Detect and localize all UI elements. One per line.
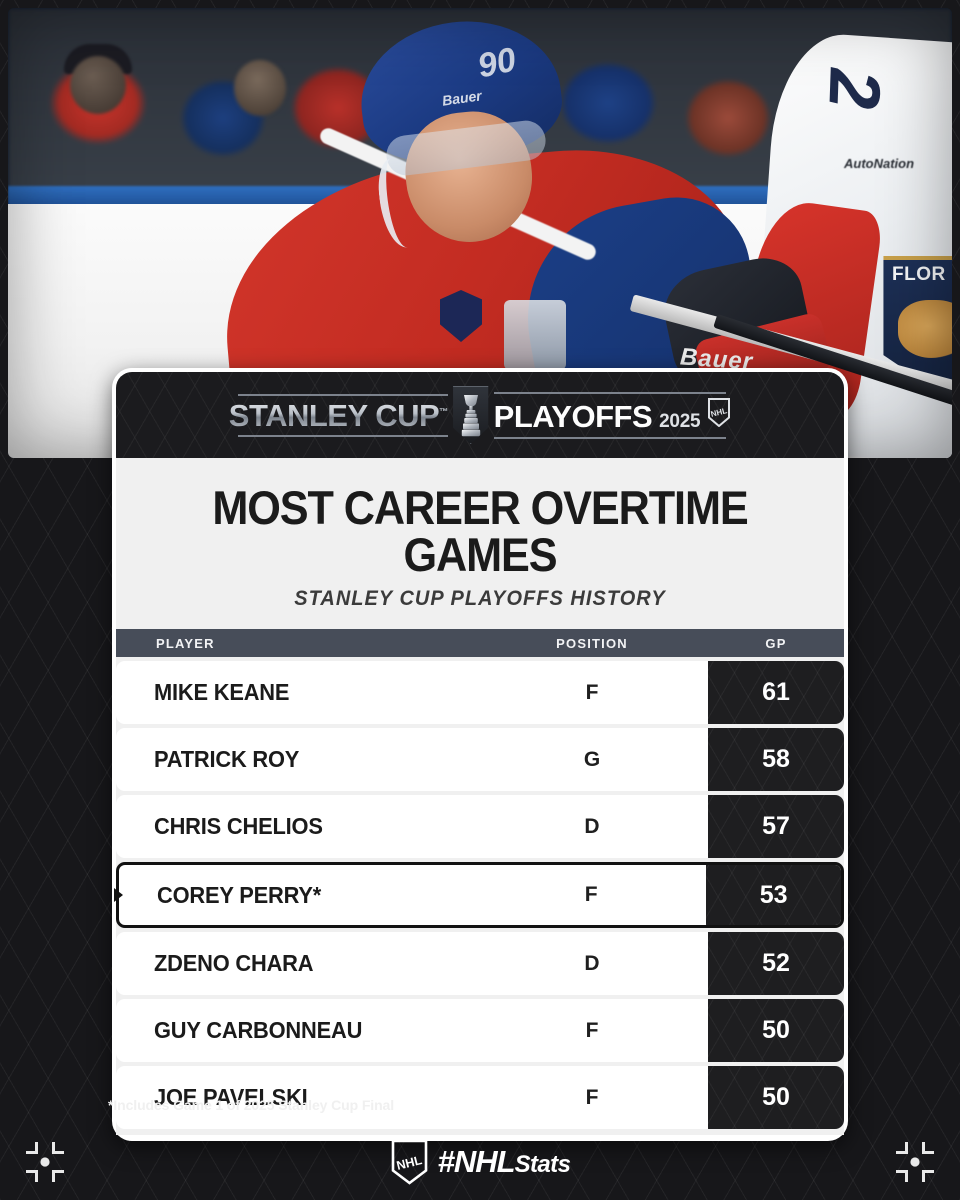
footer-bar: NHL #NHL Stats xyxy=(0,1124,960,1200)
playoffs-year: 2025 xyxy=(659,411,700,433)
table-row[interactable]: MIKE KEANEF61 xyxy=(116,661,844,724)
svg-text:NHL: NHL xyxy=(395,1153,424,1173)
column-header-player: PLAYER xyxy=(116,636,476,651)
stats-card: STANLEY CUP™ xyxy=(112,368,848,1141)
cell-player-name: GUY CARBONNEAU xyxy=(116,999,458,1062)
cell-position: F xyxy=(476,999,708,1062)
playoffs-text: PLAYOFFS xyxy=(494,401,653,432)
page-title: MOST CAREER OVERTIME GAMES xyxy=(145,484,815,578)
stanley-cup-playoffs-logo: STANLEY CUP™ xyxy=(229,386,731,444)
cell-games-played: 50 xyxy=(708,1066,844,1129)
table-header-row: PLAYER POSITION GP xyxy=(116,629,844,657)
stanley-cup-text: STANLEY CUP™ xyxy=(229,396,448,435)
faceoff-dot-icon xyxy=(22,1139,68,1185)
cell-player-name: ZDENO CHARA xyxy=(116,932,458,995)
cell-games-played: 53 xyxy=(706,865,841,925)
card-title-block: MOST CAREER OVERTIME GAMES STANLEY CUP P… xyxy=(116,458,844,629)
nhl-shield-icon: NHL xyxy=(707,398,731,427)
cell-position: F xyxy=(476,1066,708,1129)
stanley-cup-trophy-icon xyxy=(451,386,491,444)
logo-right-group: PLAYOFFS 2025 NHL xyxy=(494,392,732,439)
cell-games-played: 58 xyxy=(708,728,844,791)
table-row[interactable]: CHRIS CHELIOSD57 xyxy=(116,795,844,858)
card-header-bar: STANLEY CUP™ xyxy=(116,372,844,458)
nhl-stats-brand: NHL #NHL Stats xyxy=(390,1139,571,1185)
cell-player-name: COREY PERRY* xyxy=(119,865,458,925)
cell-position: G xyxy=(476,728,708,791)
logo-rule-bottom-left xyxy=(238,435,448,437)
cell-games-played: 52 xyxy=(708,932,844,995)
stats-text: Stats xyxy=(515,1151,571,1179)
cell-games-played: 57 xyxy=(708,795,844,858)
cell-games-played: 61 xyxy=(708,661,844,724)
page-subtitle: STANLEY CUP PLAYOFFS HISTORY xyxy=(134,587,826,611)
cell-position: D xyxy=(476,795,708,858)
table-row[interactable]: ZDENO CHARAD52 xyxy=(116,932,844,995)
hashtag-nhl-text: #NHL xyxy=(438,1144,515,1180)
column-header-position: POSITION xyxy=(476,636,708,651)
column-header-gp: GP xyxy=(708,636,844,651)
cell-player-name: MIKE KEANE xyxy=(116,661,458,724)
playoffs-row: PLAYOFFS 2025 NHL xyxy=(494,394,732,437)
table-row[interactable]: PATRICK ROYG58 xyxy=(116,728,844,791)
nhl-shield-icon: NHL xyxy=(390,1139,429,1185)
cell-player-name: PATRICK ROY xyxy=(116,728,458,791)
logo-rule-bottom-right xyxy=(494,437,726,439)
svg-text:NHL: NHL xyxy=(710,406,728,419)
graphic-canvas: cliD 2 AutoNation FLOR Bauer 90 Bauer xyxy=(0,0,960,1200)
table-row[interactable]: GUY CARBONNEAUF50 xyxy=(116,999,844,1062)
cell-games-played: 50 xyxy=(708,999,844,1062)
trademark-symbol: ™ xyxy=(439,406,448,416)
cell-position: F xyxy=(476,865,706,925)
table-row-highlighted[interactable]: COREY PERRY*F53 xyxy=(116,862,844,928)
logo-left-group: STANLEY CUP™ xyxy=(229,394,448,437)
cell-position: D xyxy=(476,932,708,995)
cell-position: F xyxy=(476,661,708,724)
footnote: *Includes Game 1 of 2025 Stanley Cup Fin… xyxy=(108,1097,394,1113)
table-body: MIKE KEANEF61PATRICK ROYG58CHRIS CHELIOS… xyxy=(116,657,844,1135)
faceoff-dot-icon xyxy=(892,1139,938,1185)
nhl-stats-wordmark: #NHL Stats xyxy=(438,1144,571,1180)
cell-player-name: CHRIS CHELIOS xyxy=(116,795,458,858)
